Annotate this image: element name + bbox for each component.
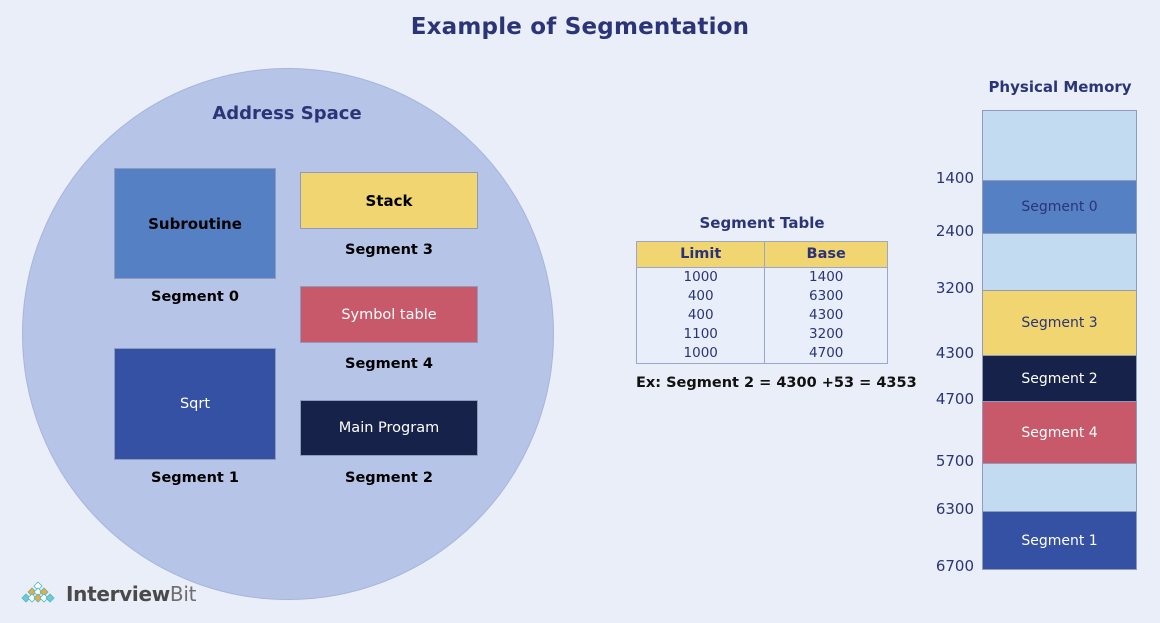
address-space-caption-segment-1: Segment 1 <box>114 470 276 486</box>
table-row: 400 6300 <box>637 287 888 306</box>
memory-tick-5700: 5700 <box>912 452 974 470</box>
memory-band-free <box>983 464 1136 512</box>
address-space-box-sqrt: Sqrt <box>114 348 276 460</box>
memory-tick-3200: 3200 <box>912 279 974 297</box>
box-label: Subroutine <box>148 215 242 233</box>
memory-band-segment-2: Segment 2 <box>983 356 1136 402</box>
cell-limit: 400 <box>637 306 765 325</box>
memory-band-segment-3: Segment 3 <box>983 291 1136 356</box>
box-label: Sqrt <box>180 396 210 412</box>
box-label: Stack <box>366 192 413 210</box>
table-row: 1000 4700 <box>637 344 888 364</box>
address-space-caption-segment-2: Segment 2 <box>300 470 478 486</box>
cell-limit: 1000 <box>637 268 765 288</box>
table-row: 1100 3200 <box>637 325 888 344</box>
memory-tick-4300: 4300 <box>912 344 974 362</box>
logo-suffix: Bit <box>170 582 196 606</box>
interviewbit-logo-text: InterviewBit <box>66 582 196 606</box>
diagram-canvas: Example of Segmentation Address Space Su… <box>0 0 1160 623</box>
address-space-box-subroutine: Subroutine <box>114 168 276 279</box>
table-row: 1000 1400 <box>637 268 888 288</box>
address-space-box-main-program: Main Program <box>300 400 478 456</box>
address-space-title: Address Space <box>22 103 552 124</box>
cell-base: 1400 <box>765 268 888 288</box>
address-space-caption-segment-0: Segment 0 <box>114 289 276 305</box>
cell-base: 4300 <box>765 306 888 325</box>
address-space-caption-segment-3: Segment 3 <box>300 242 478 258</box>
cell-limit: 1000 <box>637 344 765 364</box>
physical-memory-column: Segment 0 Segment 3 Segment 2 Segment 4 … <box>982 110 1137 570</box>
column-header-base: Base <box>765 242 888 268</box>
band-label: Segment 4 <box>1021 425 1097 441</box>
logo-name: Interview <box>66 582 170 606</box>
interviewbit-logo[interactable]: InterviewBit <box>18 580 196 608</box>
address-space-box-stack: Stack <box>300 172 478 229</box>
table-header-row: Limit Base <box>637 242 888 268</box>
physical-memory-title: Physical Memory <box>955 78 1160 96</box>
memory-tick-6300: 6300 <box>912 500 974 518</box>
address-space-box-symbol-table: Symbol table <box>300 286 478 343</box>
band-label: Segment 3 <box>1021 315 1097 331</box>
memory-band-segment-4: Segment 4 <box>983 402 1136 464</box>
segment-table-title: Segment Table <box>636 214 888 232</box>
band-label: Segment 0 <box>1021 199 1097 215</box>
column-header-limit: Limit <box>637 242 765 268</box>
memory-band-segment-1: Segment 1 <box>983 512 1136 569</box>
cell-base: 6300 <box>765 287 888 306</box>
address-space-caption-segment-4: Segment 4 <box>300 356 478 372</box>
cell-limit: 400 <box>637 287 765 306</box>
cell-base: 3200 <box>765 325 888 344</box>
memory-band-free <box>983 234 1136 291</box>
memory-band-segment-0: Segment 0 <box>983 181 1136 234</box>
table-row: 400 4300 <box>637 306 888 325</box>
memory-tick-1400: 1400 <box>912 169 974 187</box>
memory-tick-6700: 6700 <box>912 557 974 575</box>
box-label: Symbol table <box>341 307 436 323</box>
band-label: Segment 1 <box>1021 533 1097 549</box>
page-title: Example of Segmentation <box>0 14 1160 40</box>
segment-example-text: Ex: Segment 2 = 4300 +53 = 4353 <box>636 375 916 391</box>
memory-tick-2400: 2400 <box>912 222 974 240</box>
cell-limit: 1100 <box>637 325 765 344</box>
memory-band-free <box>983 111 1136 181</box>
box-label: Main Program <box>339 420 439 436</box>
segment-table: Limit Base 1000 1400 400 6300 400 4300 1… <box>636 241 888 364</box>
interviewbit-logo-icon <box>18 580 58 608</box>
band-label: Segment 2 <box>1021 371 1097 387</box>
cell-base: 4700 <box>765 344 888 364</box>
memory-tick-4700: 4700 <box>912 390 974 408</box>
